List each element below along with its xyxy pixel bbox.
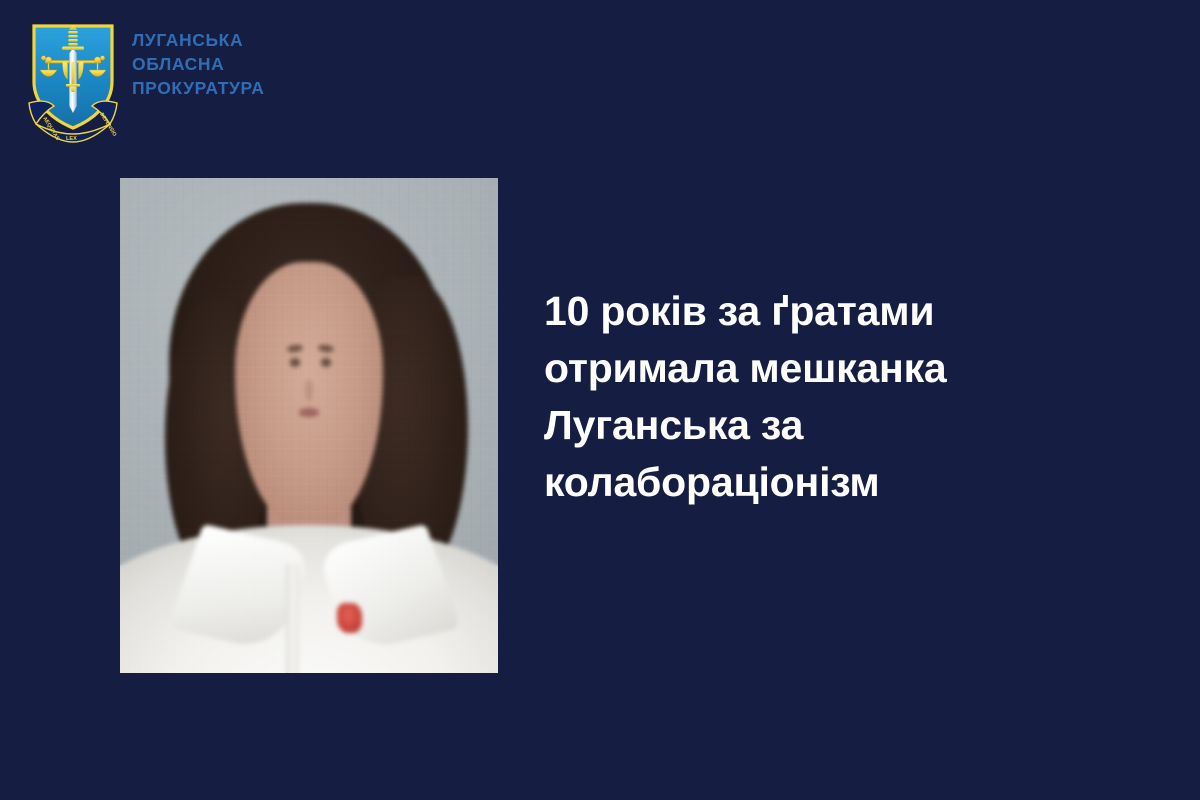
headline-line-4: колабораціонізм xyxy=(544,454,1064,511)
mouth-region xyxy=(299,408,320,417)
brand-line-2: ОБЛАСНА xyxy=(132,52,264,76)
eyebrow-left xyxy=(286,344,303,353)
headline-line-2: отримала мешканка xyxy=(544,340,1064,397)
brand-line-3: ПРОКУРАТУРА xyxy=(132,76,264,100)
headline-line-3: Луганська за xyxy=(544,397,1064,454)
nose-region xyxy=(305,380,313,401)
shirt-logo-emblem xyxy=(337,603,362,634)
motto-center: LEX xyxy=(66,136,77,142)
eye-left xyxy=(290,358,301,367)
headline-line-1: 10 років за ґратами xyxy=(544,283,1064,340)
shirt-placket xyxy=(286,564,299,673)
news-banner: AEQUITAS LEX DEFENSIO ЛУГАНСЬКА ОБЛАСНА … xyxy=(0,0,1200,800)
brand-block: AEQUITAS LEX DEFENSIO ЛУГАНСЬКА ОБЛАСНА … xyxy=(26,20,264,144)
brand-line-1: ЛУГАНСЬКА xyxy=(132,28,264,52)
eyebrow-right xyxy=(317,344,334,353)
brand-name: ЛУГАНСЬКА ОБЛАСНА ПРОКУРАТУРА xyxy=(132,28,264,100)
headline: 10 років за ґратами отримала мешканка Лу… xyxy=(544,283,1064,511)
portrait-photo xyxy=(120,178,498,673)
eye-right xyxy=(321,358,332,367)
prosecutor-coat-of-arms-emblem: AEQUITAS LEX DEFENSIO xyxy=(26,20,120,144)
portrait-photo-content xyxy=(120,178,498,673)
